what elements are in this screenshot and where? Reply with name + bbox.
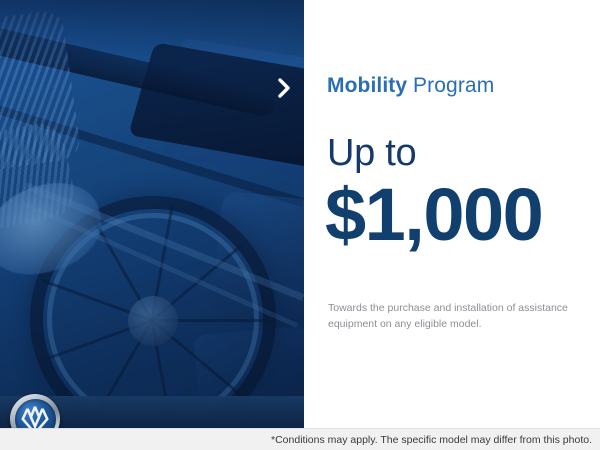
offer-title-light: Program [407,74,494,97]
offer-title-bold: Mobility [327,74,407,97]
vw-logo-inner [15,399,56,429]
disclaimer-text: *Conditions may apply. The specific mode… [271,434,600,446]
disclaimer-bar: *Conditions may apply. The specific mode… [0,428,600,450]
chevron-right-glyph [277,78,291,98]
offer-title: Mobility Program [327,74,494,98]
offer-content-panel: Mobility Program Up to $1,000 Towards th… [304,0,600,428]
promo-photo-panel[interactable] [0,0,304,428]
wheelchair-photo [0,0,304,428]
offer-prefix: Up to [327,134,416,172]
chevron-right-icon[interactable] [271,75,297,101]
vw-monogram-icon [18,402,52,428]
promotional-banner: Mobility Program Up to $1,000 Towards th… [0,0,600,450]
offer-amount: $1,000 [325,178,542,252]
photo-blue-duotone-overlay [0,0,304,428]
offer-description: Towards the purchase and installation of… [328,300,586,333]
